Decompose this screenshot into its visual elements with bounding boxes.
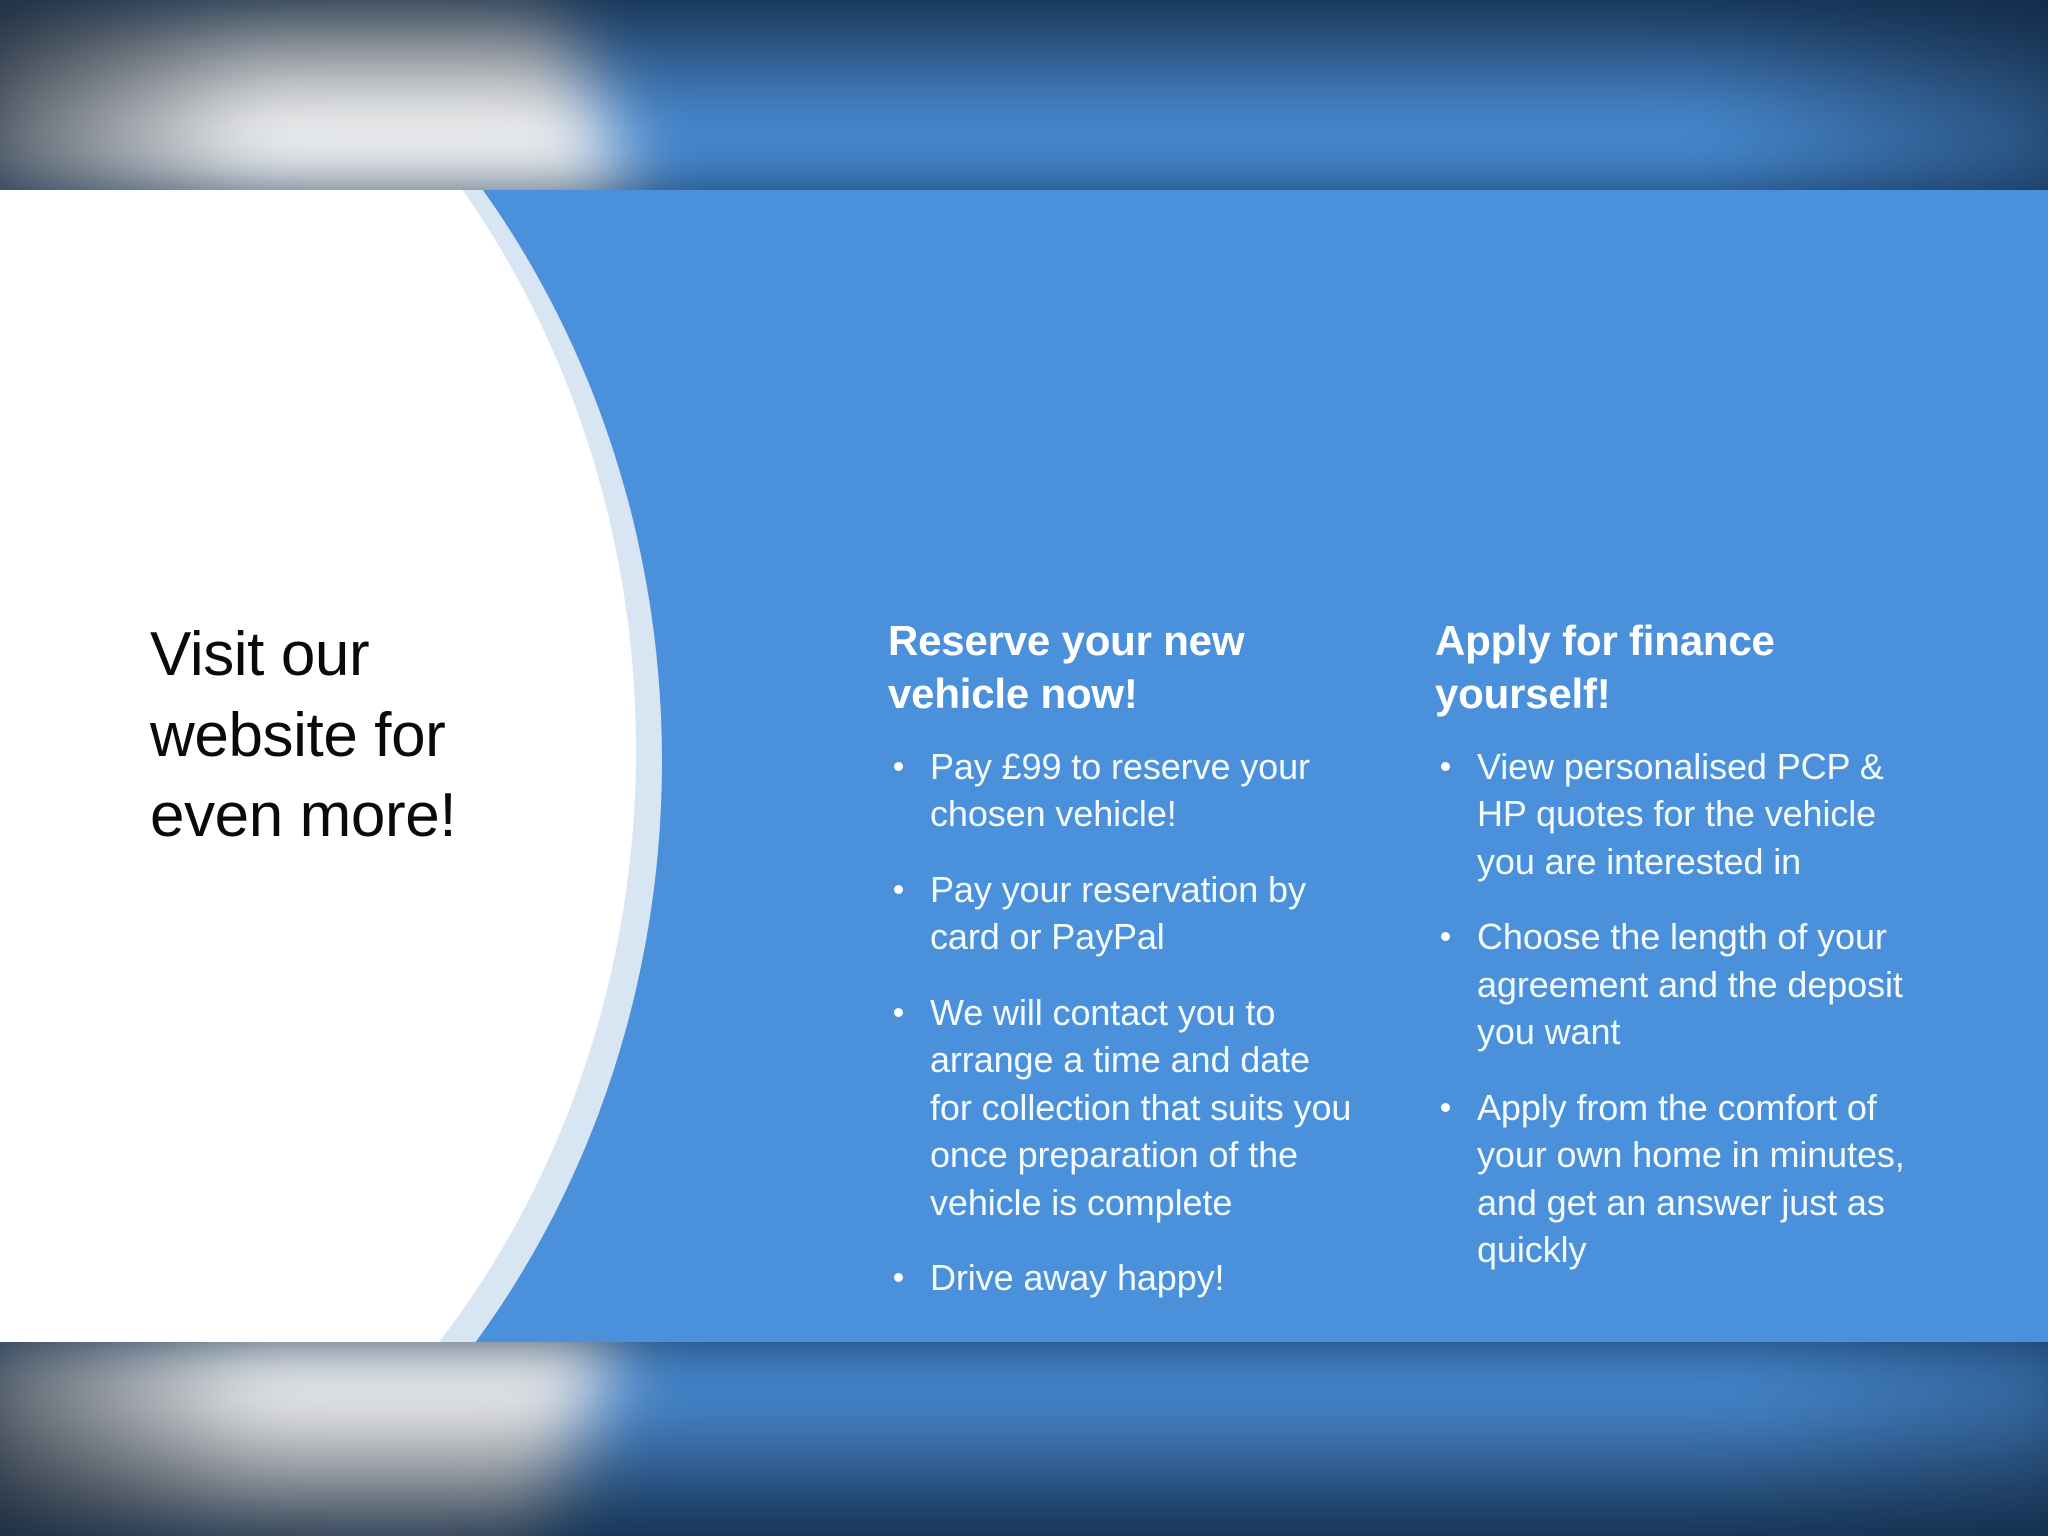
list-item: View personalised PCP & HP quotes for th…	[1435, 743, 1925, 886]
list-item: Choose the length of your agreement and …	[1435, 913, 1925, 1056]
bullet-list-finance: View personalised PCP & HP quotes for th…	[1435, 743, 1925, 1274]
list-item-label: Pay your reservation by card or PayPal	[930, 869, 1306, 958]
list-item-label: Drive away happy!	[930, 1257, 1224, 1298]
bullet-dot-icon	[1441, 762, 1450, 771]
blurred-backdrop-bottom	[0, 1338, 2048, 1536]
backdrop-top-inner	[0, 0, 2048, 196]
column-heading: Apply for finance yourself!	[1435, 614, 1925, 721]
column-heading: Reserve your new vehicle now!	[888, 614, 1358, 721]
list-item: Drive away happy!	[888, 1254, 1358, 1302]
backdrop-slide-copy	[0, 1338, 2048, 1536]
slide-viewer: Visit our website for even more! Reserve…	[0, 0, 2048, 1536]
list-item: Pay £99 to reserve your chosen vehicle!	[888, 743, 1358, 838]
list-item: Apply from the comfort of your own home …	[1435, 1084, 1925, 1274]
column-reserve: Reserve your new vehicle now! Pay £99 to…	[888, 614, 1358, 1302]
list-item-label: We will contact you to arrange a time an…	[930, 992, 1351, 1223]
bullet-dot-icon	[1441, 1103, 1450, 1112]
list-item-label: Choose the length of your agreement and …	[1477, 916, 1903, 1052]
bullet-dot-icon	[1441, 932, 1450, 941]
list-item: We will contact you to arrange a time an…	[888, 989, 1358, 1227]
backdrop-curve-shape	[0, 0, 645, 196]
list-item-label: Pay £99 to reserve your chosen vehicle!	[930, 746, 1310, 835]
backdrop-bottom-inner	[0, 1338, 2048, 1536]
slide-left-title: Visit our website for even more!	[150, 615, 580, 857]
bullet-dot-icon	[894, 762, 903, 771]
bullet-dot-icon	[894, 1008, 903, 1017]
blurred-backdrop-top	[0, 0, 2048, 196]
bullet-dot-icon	[894, 1273, 903, 1282]
list-item-label: Apply from the comfort of your own home …	[1477, 1087, 1905, 1271]
backdrop-curve-shape	[0, 1338, 645, 1536]
column-finance: Apply for finance yourself! View persona…	[1435, 614, 1925, 1274]
bullet-list-reserve: Pay £99 to reserve your chosen vehicle! …	[888, 743, 1358, 1302]
bullet-dot-icon	[894, 885, 903, 894]
presentation-slide: Visit our website for even more! Reserve…	[0, 190, 2048, 1342]
list-item-label: View personalised PCP & HP quotes for th…	[1477, 746, 1884, 882]
backdrop-slide-copy	[0, 0, 2048, 196]
list-item: Pay your reservation by card or PayPal	[888, 866, 1358, 961]
